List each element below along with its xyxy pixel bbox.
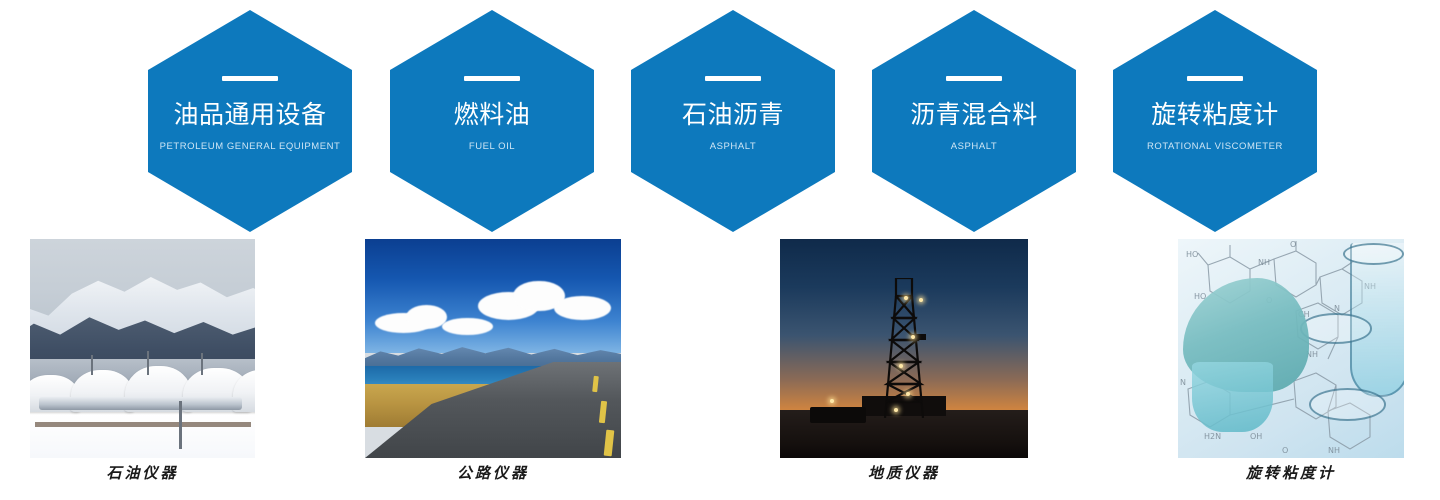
cloud [554, 296, 610, 320]
svg-text:OH: OH [1250, 432, 1262, 441]
card-caption: 地质仪器 [780, 463, 1028, 483]
hexagon-subtitle: PETROLEUM GENERAL EQUIPMENT [160, 141, 341, 153]
hex-divider-icon [1187, 76, 1243, 81]
card-caption: 旋转粘度计 [1178, 463, 1404, 483]
site-light [830, 399, 834, 403]
rig-light [899, 364, 903, 368]
category-card-viscometer[interactable]: HO O NH HO O NH CH N NH N H2N OH O NH [1178, 239, 1404, 458]
svg-text:O: O [1290, 240, 1296, 249]
hexagon-subtitle: ASPHALT [951, 141, 997, 153]
pipeline [39, 397, 242, 410]
held-beaker [1192, 362, 1273, 432]
beaker-rim [1300, 313, 1372, 344]
hexagon-title: 油品通用设备 [173, 100, 326, 130]
rig-light [904, 296, 908, 300]
hexagon-category-asphalt[interactable]: 石油沥青 ASPHALT [631, 10, 835, 232]
beaker-rim [1309, 388, 1386, 421]
hex-divider-icon [222, 76, 278, 81]
category-showcase: 油品通用设备 PETROLEUM GENERAL EQUIPMENT 燃料油 F… [0, 0, 1440, 500]
svg-text:H2N: H2N [1204, 432, 1221, 441]
hexagon-title: 沥青混合料 [910, 100, 1038, 130]
site-truck [810, 407, 866, 423]
svg-text:NH: NH [1328, 446, 1340, 455]
hexagon-subtitle: FUEL OIL [469, 141, 515, 153]
hexagon-subtitle: ASPHALT [710, 141, 756, 153]
photo-petroleum-tank-farm[interactable] [30, 239, 255, 458]
svg-text:N: N [1334, 304, 1340, 313]
hexagon-category-petroleum-general-equipment[interactable]: 油品通用设备 PETROLEUM GENERAL EQUIPMENT [148, 10, 352, 232]
light-pole [179, 401, 182, 449]
photo-lab-glassware-molecules[interactable]: HO O NH HO O NH CH N NH N H2N OH O NH [1178, 239, 1404, 458]
hexagon-subtitle: ROTATIONAL VISCOMETER [1147, 141, 1283, 153]
photo-drilling-rig-dusk[interactable] [780, 239, 1028, 458]
hexagon-title: 燃料油 [454, 100, 531, 130]
rig-light [919, 298, 923, 302]
svg-text:HO: HO [1186, 250, 1198, 259]
hex-divider-icon [464, 76, 520, 81]
hexagon-category-row: 油品通用设备 PETROLEUM GENERAL EQUIPMENT 燃料油 F… [0, 0, 1440, 240]
photo-highway-lake[interactable] [365, 239, 621, 458]
svg-text:NH: NH [1258, 258, 1270, 267]
hexagon-category-rotational-viscometer[interactable]: 旋转粘度计 ROTATIONAL VISCOMETER [1113, 10, 1317, 232]
hexagon-category-asphalt-mixture[interactable]: 沥青混合料 ASPHALT [872, 10, 1076, 232]
vent-mast [147, 351, 149, 375]
cloud [406, 305, 447, 329]
category-card-highway[interactable]: 公路仪器 [365, 239, 621, 458]
rig-light [894, 408, 898, 412]
hex-divider-icon [705, 76, 761, 81]
hexagon-title: 石油沥青 [682, 100, 784, 130]
card-caption: 公路仪器 [365, 463, 621, 483]
category-card-petroleum[interactable]: 石油仪器 [30, 239, 255, 458]
hexagon-category-fuel-oil[interactable]: 燃料油 FUEL OIL [390, 10, 594, 232]
category-card-geology[interactable]: 地质仪器 [780, 239, 1028, 458]
svg-text:O: O [1282, 446, 1288, 455]
rail-line [35, 422, 251, 427]
vent-mast [91, 355, 93, 375]
vent-mast [201, 353, 203, 375]
svg-text:N: N [1180, 378, 1186, 387]
hex-divider-icon [946, 76, 1002, 81]
hexagon-title: 旋转粘度计 [1151, 100, 1279, 130]
card-caption: 石油仪器 [30, 463, 255, 483]
